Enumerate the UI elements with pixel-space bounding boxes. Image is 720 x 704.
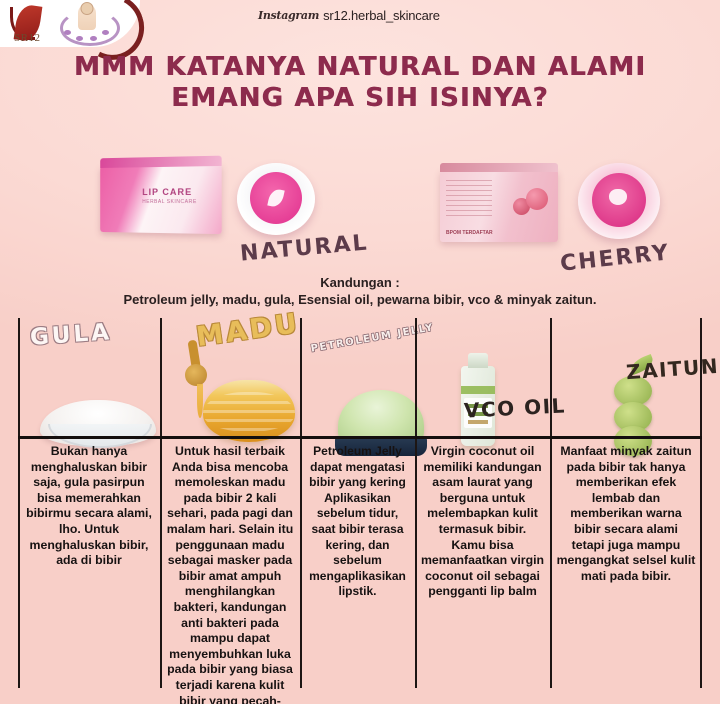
- product-jar-cherry: [578, 163, 660, 239]
- petroleum-jelly-tub-icon: [338, 390, 424, 448]
- instagram-handle: Instagram sr12.herbal_skincare: [258, 5, 558, 25]
- column-text-petroleum-jelly: Petroleum Jelly dapat mengatasi bibir ya…: [300, 444, 415, 694]
- product-box-natural-sub: HERBAL SKINCARE: [142, 199, 197, 205]
- product-caption-natural: NATURAL: [239, 230, 369, 266]
- column-text-madu: Untuk hasil terbaik Anda bisa mencoba me…: [160, 444, 300, 694]
- ingredients-summary: Kandungan : Petroleum jelly, madu, gula,…: [0, 274, 720, 309]
- logo-brand-text: SR12: [14, 32, 40, 44]
- page-title: MMM KATANYA NATURAL DAN ALAMI EMANG APA …: [0, 52, 720, 114]
- product-box-cherry: BPOM TERDAFTAR: [440, 170, 558, 242]
- product-jar-natural: [237, 163, 315, 235]
- column-text-vco: Virgin coconut oil memiliki kandungan as…: [415, 444, 550, 694]
- instagram-username: sr12.herbal_skincare: [323, 8, 440, 23]
- crest-emblem-icon: [56, 2, 118, 46]
- ingredients-summary-title: Kandungan :: [0, 274, 720, 291]
- poster-canvas: SR12 Instagram sr12.herbal_skincare MMM …: [0, 0, 720, 704]
- brand-logo-badge: SR12: [0, 0, 140, 47]
- product-box-natural-label: LIP CARE: [142, 187, 192, 197]
- leaf-logo-icon: SR12: [6, 3, 50, 45]
- headline-line-2: EMANG APA SIH ISINYA?: [0, 83, 720, 114]
- column-text-zaitun: Manfaat minyak zaitun pada bibir tak han…: [550, 444, 702, 694]
- product-caption-cherry: CHERRY: [559, 240, 671, 276]
- instagram-wordmark: Instagram: [258, 9, 319, 22]
- product-box-cherry-sub: BPOM TERDAFTAR: [446, 230, 493, 236]
- honey-jar-icon: [203, 380, 295, 442]
- lip-icon: [609, 189, 627, 205]
- headline-line-1: MMM KATANYA NATURAL DAN ALAMI: [74, 52, 646, 82]
- column-text-gula: Bukan hanya menghaluskan bibir saja, gul…: [18, 444, 160, 694]
- ingredient-label-zaitun: ZAITUN: [625, 354, 719, 384]
- product-box-natural: LIP CARE HERBAL SKINCARE: [100, 164, 221, 234]
- ingredients-summary-list: Petroleum jelly, madu, gula, Esensial oi…: [0, 291, 720, 309]
- ingredient-description-columns: Bukan hanya menghaluskan bibir saja, gul…: [18, 444, 702, 694]
- header-rule: [18, 436, 702, 439]
- sugar-bowl-icon: [40, 400, 156, 446]
